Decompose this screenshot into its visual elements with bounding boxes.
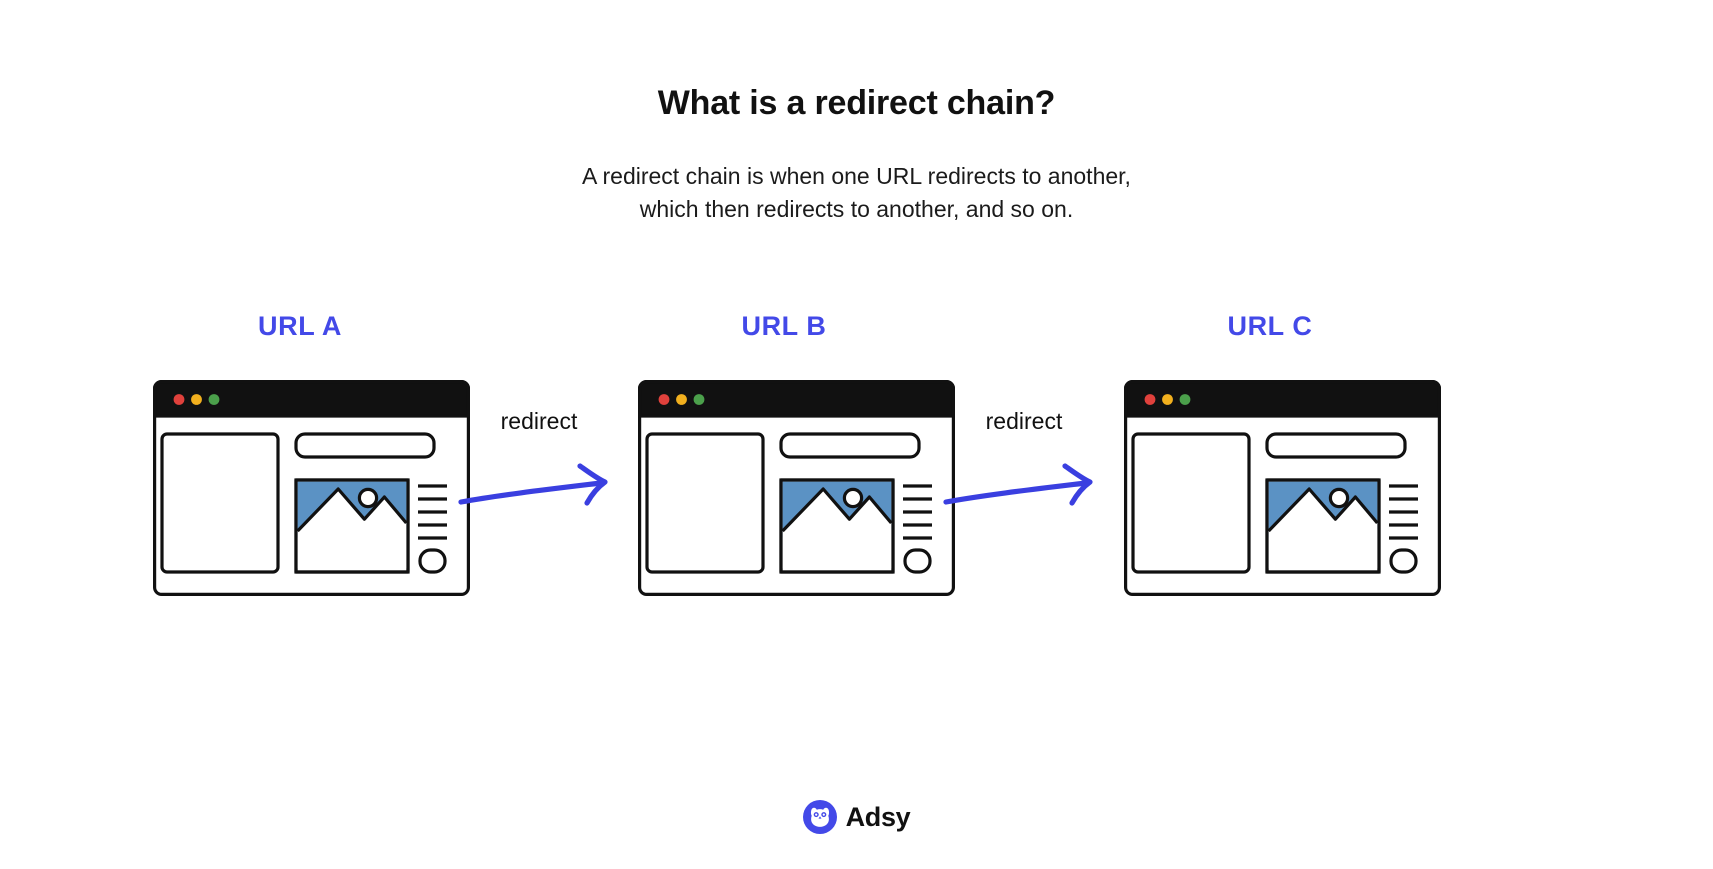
redirect-label-1: redirect [455,408,623,435]
avatar-placeholder [420,550,445,572]
avatar-placeholder [1391,550,1416,572]
url-label-c: URL C [1140,311,1400,342]
image-placeholder [1267,480,1379,572]
infographic-canvas: What is a redirect chain? A redirect cha… [0,0,1713,869]
brand-wordmark: Adsy [846,802,911,833]
page-subtitle-line-2: which then redirects to another, and so … [0,193,1713,226]
redirect-arrow-icon-1 [455,458,623,518]
url-label-b: URL B [654,311,914,342]
avatar-placeholder [905,550,930,572]
browser-window-url-a [153,380,470,596]
page-subtitle-line-1: A redirect chain is when one URL redirec… [0,160,1713,193]
image-placeholder [781,480,893,572]
footer-brand-logo: Adsy [0,800,1713,834]
traffic-light-dots [1145,394,1191,405]
redirect-connector-2: redirect [940,408,1108,528]
url-label-a: URL A [170,311,430,342]
browser-window-url-b [638,380,955,596]
image-placeholder [296,480,408,572]
traffic-light-dots [659,394,705,405]
redirect-connector-1: redirect [455,408,623,528]
redirect-label-2: redirect [940,408,1108,435]
page-subtitle: A redirect chain is when one URL redirec… [0,160,1713,227]
browser-window-url-c [1124,380,1441,596]
redirect-arrow-icon-2 [940,458,1108,518]
page-title: What is a redirect chain? [0,84,1713,123]
traffic-light-dots [174,394,220,405]
owl-icon [803,800,837,834]
